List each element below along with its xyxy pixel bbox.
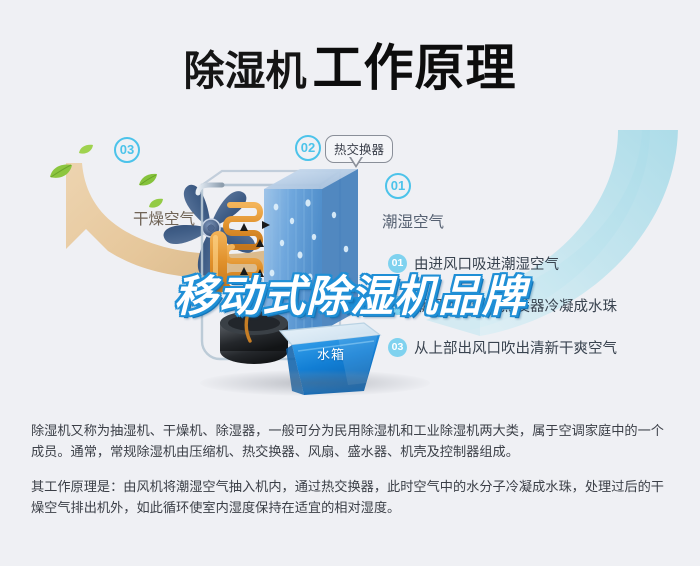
paragraph-1: 除湿机又称为抽湿机、干燥机、除湿器，一般可分为民用除湿机和工业除湿机两大类，属于… xyxy=(31,420,671,462)
water-tank-label: 水箱 xyxy=(317,344,345,363)
dry-air-label: 干燥空气 xyxy=(133,207,195,229)
page-title-main: 工作原理 xyxy=(313,40,517,96)
leaf-icon xyxy=(78,143,94,161)
page-title-prefix: 除湿机 xyxy=(184,48,307,94)
page-title: 除湿机工作原理 xyxy=(0,28,700,100)
step-text: 从上部出风口吹出清新干爽空气 xyxy=(414,337,617,358)
leaf-icon xyxy=(48,163,74,186)
diagram-badge-02: 02 xyxy=(295,135,321,161)
diagram-badge-03: 03 xyxy=(114,137,140,163)
brand-watermark: 移动式除湿机品牌 xyxy=(0,262,700,324)
diagram-badge-01: 01 xyxy=(385,173,411,199)
paragraph-2: 其工作原理是：由风机将潮湿空气抽入机内，通过热交换器，此时空气中的水分子冷凝成水… xyxy=(31,476,671,518)
infographic-page: 除湿机工作原理 xyxy=(0,0,700,566)
leaf-icon xyxy=(138,173,158,193)
list-item: 03 从上部出风口吹出清新干爽空气 xyxy=(388,332,688,362)
callout-pointer-icon xyxy=(349,157,363,168)
humid-air-label: 潮湿空气 xyxy=(382,210,444,232)
body-copy: 除湿机又称为抽湿机、干燥机、除湿器，一般可分为民用除湿机和工业除湿机两大类，属于… xyxy=(31,420,671,518)
step-badge: 03 xyxy=(388,338,407,357)
